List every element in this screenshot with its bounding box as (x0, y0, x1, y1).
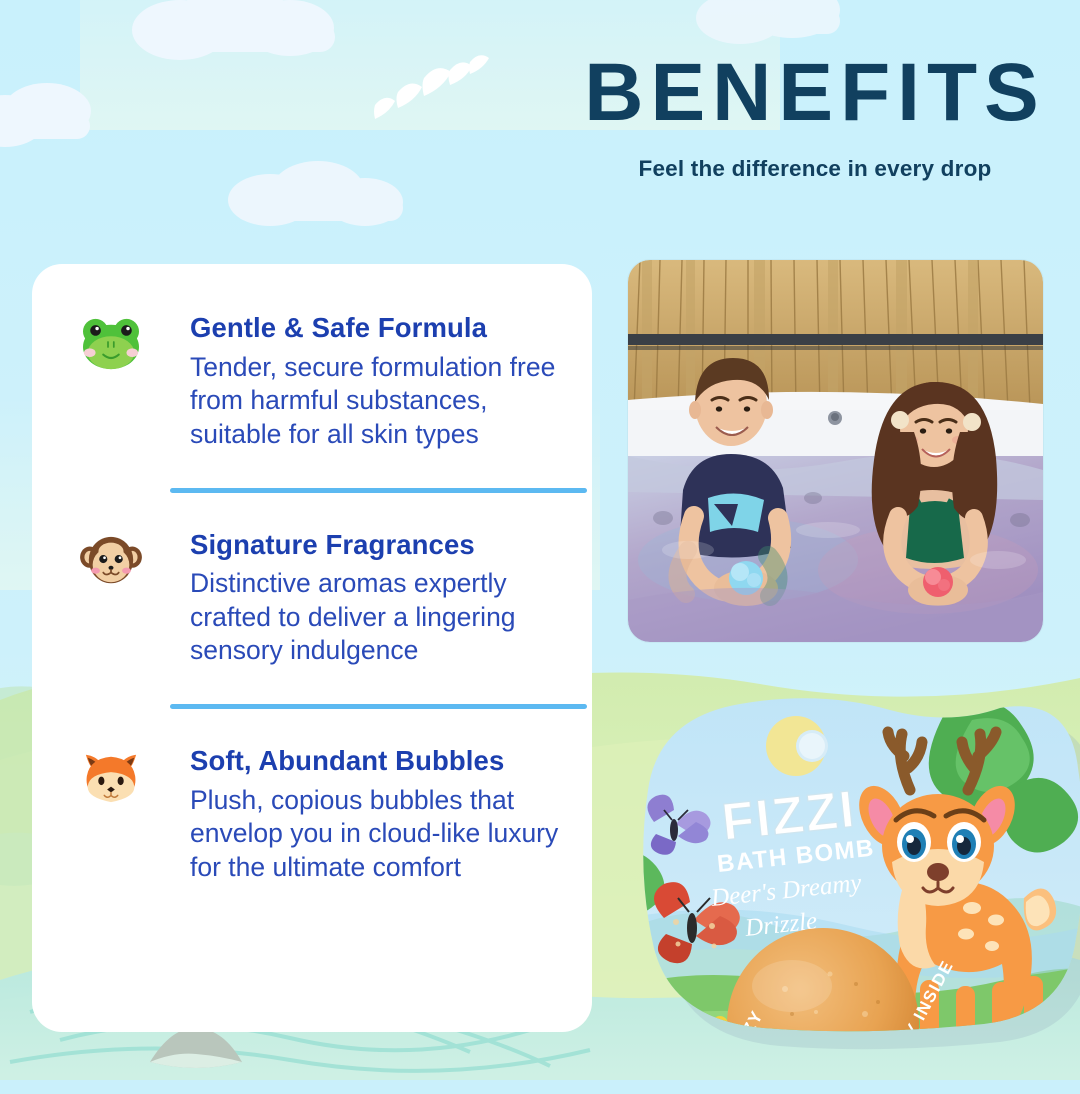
page-subtitle: Feel the difference in every drop (575, 156, 1055, 182)
benefit-item-3: Soft, Abundant Bubbles Plush, copious bu… (32, 745, 592, 885)
product-package: FIZZI BATH BOMB Deer's Dreamy Drizzle (620, 694, 1080, 1094)
benefit-item-1: Gentle & Safe Formula Tender, secure for… (32, 312, 592, 452)
fox-icon (80, 749, 142, 805)
lifestyle-photo (628, 260, 1043, 642)
benefit-description: Tender, secure formulation free from har… (190, 351, 570, 452)
benefit-title: Gentle & Safe Formula (190, 312, 570, 344)
monkey-icon (80, 533, 142, 589)
divider-1 (170, 488, 587, 493)
benefit-title: Signature Fragrances (190, 529, 570, 561)
frog-icon (80, 316, 142, 372)
benefit-description: Plush, copious bubbles that envelop you … (190, 784, 570, 885)
benefit-item-2: Signature Fragrances Distinctive aromas … (32, 529, 592, 669)
benefit-title: Soft, Abundant Bubbles (190, 745, 570, 777)
page-title: BENEFITS (575, 52, 1055, 134)
divider-2 (170, 704, 587, 709)
benefit-description: Distinctive aromas expertly crafted to d… (190, 567, 570, 668)
header: BENEFITS Feel the difference in every dr… (575, 52, 1055, 182)
benefits-card: Gentle & Safe Formula Tender, secure for… (32, 264, 592, 1032)
